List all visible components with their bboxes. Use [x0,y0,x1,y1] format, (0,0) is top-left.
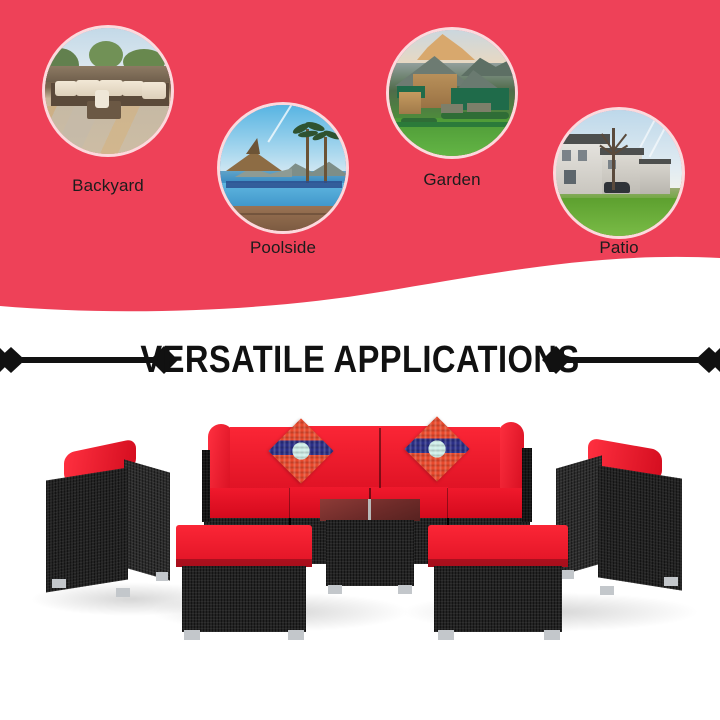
product-piece-coffee-table[interactable] [320,499,420,597]
ottoman-left-body [182,566,306,632]
armchair-left-arm-frame [46,468,128,593]
patio-photo [556,110,682,236]
application-label-patio: Patio [549,238,689,258]
ottoman-right-body [434,566,562,632]
sofa-seat-cushion [448,488,524,520]
armchair-right-foot [600,586,614,595]
product-photo-section [0,392,720,720]
application-label-poolside: Poolside [213,238,353,258]
armchair-left-foot [52,579,66,588]
applications-hero-section: Backyard Poolside [0,0,720,315]
product-piece-ottoman-left[interactable] [176,525,312,642]
application-circle-poolside[interactable] [220,105,346,231]
poolside-photo [220,105,346,231]
garden-photo [389,30,515,156]
ottoman-right-foot [438,630,454,640]
coffee-table-glass-seam [368,499,371,521]
coffee-table-foot [398,585,412,594]
ottoman-left-foot [288,630,304,640]
armchair-left-foot [156,572,168,581]
backyard-photo [45,28,171,154]
sofa-seam [289,488,290,520]
armchair-left-foot [116,588,130,597]
sofa-seat-cushion [210,488,290,520]
ottoman-right-foot [544,630,560,640]
application-circle-backyard[interactable] [45,28,171,154]
application-label-garden: Garden [382,170,522,190]
application-circle-garden[interactable] [389,30,515,156]
sofa-seam [379,428,381,488]
product-piece-ottoman-right[interactable] [428,525,568,642]
banner-title-section: VERSATILE APPLICATIONS [0,330,720,390]
application-label-backyard: Backyard [38,176,178,196]
sofa-back-frame [202,450,210,522]
ornament-right-diamond-line [542,330,720,390]
product-piece-armchair-right[interactable] [548,440,688,598]
product-piece-armchair-left[interactable] [42,442,182,597]
application-circle-patio[interactable] [556,110,682,236]
coffee-table-body [326,520,414,586]
ottoman-left-foot [184,630,200,640]
coffee-table-foot [328,585,342,594]
armchair-right-foot [664,577,678,586]
armchair-left-back-frame [124,459,170,580]
sofa-back-frame [522,448,532,522]
sofa-seam [447,488,448,520]
armchair-right-arm-frame [598,465,682,590]
